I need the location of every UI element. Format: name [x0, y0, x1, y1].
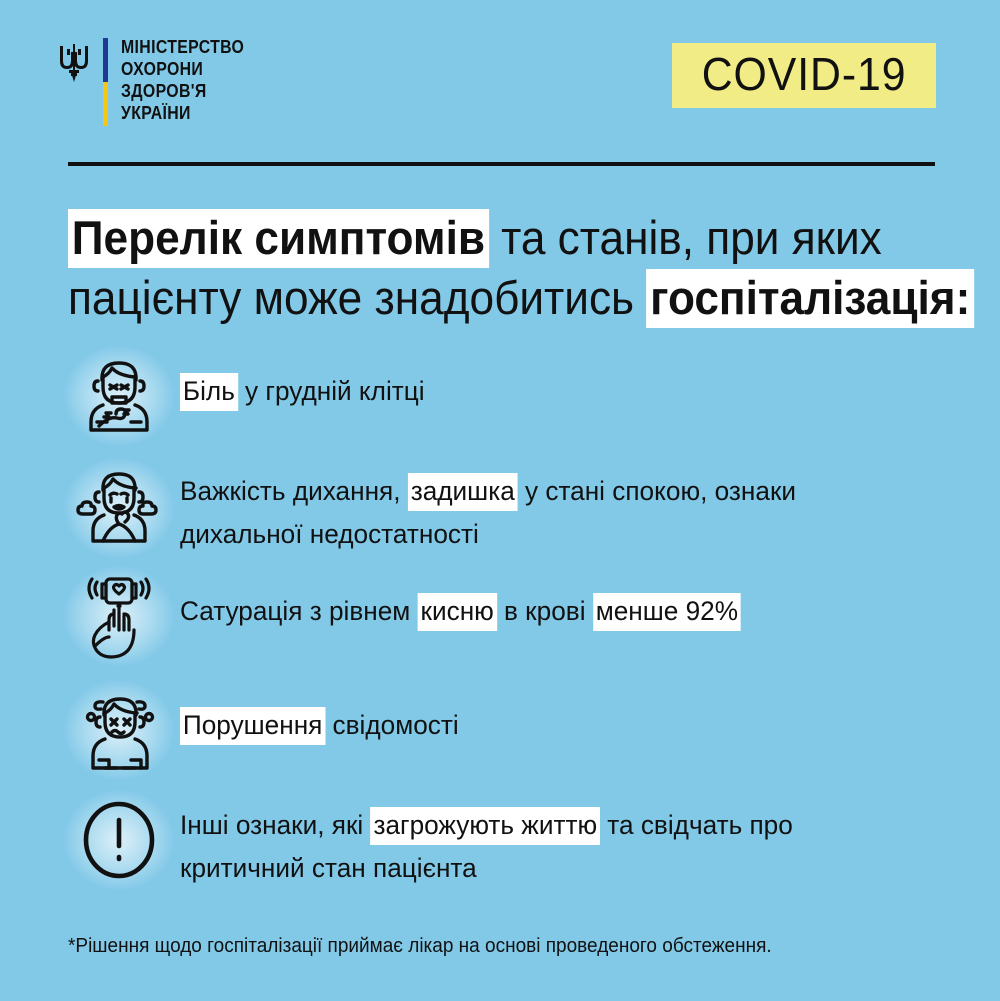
ministry-of-health-logo: МІНІСТЕРСТВО ОХОРОНИ ЗДОРОВ'Я УКРАЇНИ [57, 36, 261, 126]
ukraine-trident-emblem [57, 40, 91, 84]
highlighted-phrase: менше 92% [593, 593, 741, 631]
symptom-text: Біль у грудній клітці [178, 348, 960, 413]
covid-19-badge: COVID-19 [672, 43, 936, 108]
symptom-line: Порушення свідомості [180, 704, 937, 747]
symptom-text: Інші ознаки, які загрожують життю та сві… [178, 792, 960, 890]
header: МІНІСТЕРСТВО ОХОРОНИ ЗДОРОВ'Я УКРАЇНИ CO… [0, 0, 1000, 150]
footnote: *Рішення щодо госпіталізації приймає лік… [68, 932, 923, 960]
chest-pain-person-icon [60, 348, 178, 444]
highlighted-phrase: кисню [418, 593, 497, 631]
list-item: Сатурація з рівнем кисню в крові менше 9… [60, 568, 960, 664]
symptom-text: Порушення свідомості [178, 682, 960, 747]
symptom-line: критичний стан пацієнта [180, 847, 937, 890]
highlighted-phrase: Порушення [180, 707, 325, 745]
list-item: Біль у грудній клітці [60, 348, 960, 444]
logo-line-1: МІНІСТЕРСТВО [121, 36, 244, 58]
dizzy-confused-person-icon [60, 682, 178, 778]
headline-line-2: пацієнту може знадобитись госпіталізація… [68, 268, 895, 328]
flag-color-divider [103, 38, 108, 126]
pulse-oximeter-finger-icon [60, 568, 178, 664]
logo-line-3: ЗДОРОВ'Я [121, 80, 244, 102]
exclamation-circle-icon [60, 792, 178, 888]
symptom-text: Сатурація з рівнем кисню в крові менше 9… [178, 568, 960, 633]
list-item: Важкість дихання, задишка у стані спокою… [60, 460, 960, 556]
header-divider-rule [68, 162, 935, 166]
highlighted-phrase: Біль [180, 373, 238, 411]
symptom-line: Інші ознаки, які загрожують життю та сві… [180, 804, 937, 847]
list-item: Інші ознаки, які загрожують життю та сві… [60, 792, 960, 890]
symptom-line: Важкість дихання, задишка у стані спокою… [180, 470, 937, 513]
covid-hospitalization-infographic: МІНІСТЕРСТВО ОХОРОНИ ЗДОРОВ'Я УКРАЇНИ CO… [0, 0, 1000, 1001]
ministry-logo-text: МІНІСТЕРСТВО ОХОРОНИ ЗДОРОВ'Я УКРАЇНИ [121, 36, 261, 124]
highlighted-phrase: загрожують життю [371, 807, 600, 845]
page-title: Перелік симптомів та станів, при яких па… [68, 208, 948, 328]
symptom-text: Важкість дихання, задишка у стані спокою… [178, 460, 960, 556]
highlighted-phrase: задишка [408, 473, 518, 511]
logo-line-4: УКРАЇНИ [121, 102, 244, 124]
breathing-difficulty-person-icon [60, 460, 178, 556]
logo-line-2: ОХОРОНИ [121, 58, 244, 80]
covid-19-badge-label: COVID-19 [702, 50, 907, 98]
symptom-line: дихальної недостатності [180, 513, 937, 556]
symptom-line: Сатурація з рівнем кисню в крові менше 9… [180, 590, 937, 633]
symptom-list: Біль у грудній клітці [60, 348, 960, 890]
highlighted-phrase: Перелік симптомів [68, 209, 489, 268]
highlighted-phrase: госпіталізація: [646, 269, 974, 328]
list-item: Порушення свідомості [60, 682, 960, 778]
headline-line-1: Перелік симптомів та станів, при яких [68, 208, 895, 268]
symptom-line: Біль у грудній клітці [180, 370, 937, 413]
